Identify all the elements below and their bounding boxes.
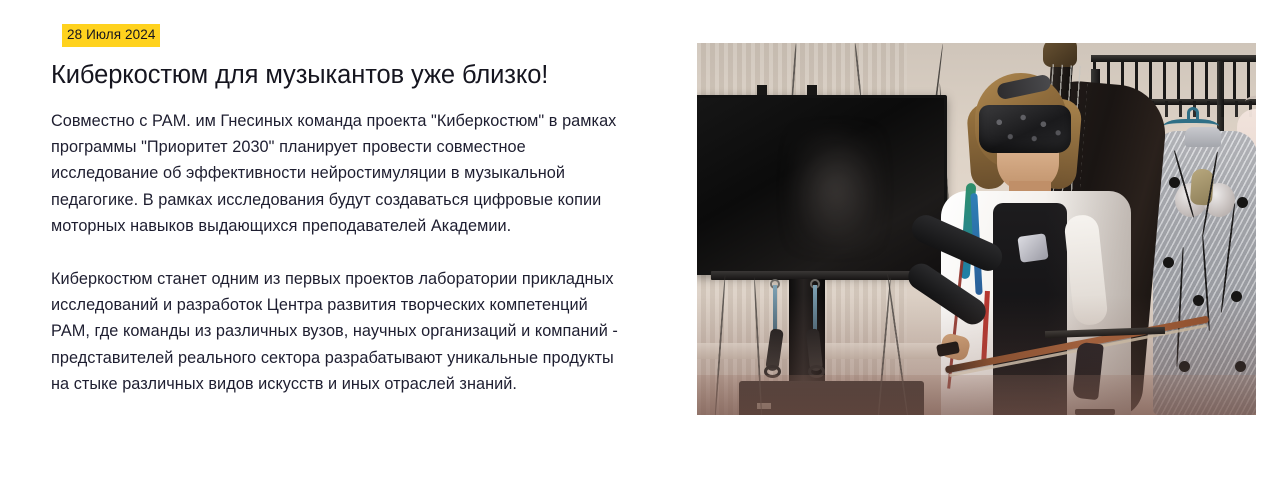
article-title: Киберкостюм для музыкантов уже близко! [51,60,626,91]
date-badge-row: 28 Июля 2024 [62,24,626,47]
performer-chest-badge [1017,233,1048,263]
cybersuit-sensor-node [1169,177,1180,188]
publish-date-badge: 28 Июля 2024 [62,24,160,47]
news-article-page: 28 Июля 2024 Киберкостюм для музыкантов … [0,0,1277,480]
double-bass-scroll [1043,43,1077,67]
vr-headset [979,105,1071,153]
cybersuit-sensor-node [1163,257,1174,268]
photo-illustration [697,43,1256,415]
monitor-screen [697,95,947,275]
room-floor [697,375,1256,415]
cybersuit-sensor-node [1237,197,1248,208]
monitor-mount [807,85,817,95]
vr-headset-sensors [979,105,1071,153]
article-content: 28 Июля 2024 Киберкостюм для музыкантов … [51,24,626,398]
article-body: Совместно с РАМ. им Гнесиных команда про… [51,108,626,398]
monitor-mount [757,85,767,95]
article-photo [697,43,1256,415]
article-paragraph-1: Совместно с РАМ. им Гнесиных команда про… [51,108,626,240]
cybersuit-wire [1202,151,1219,236]
screen-glare [790,129,880,249]
article-paragraph-2: Киберкостюм станет одним из первых проек… [51,266,626,398]
